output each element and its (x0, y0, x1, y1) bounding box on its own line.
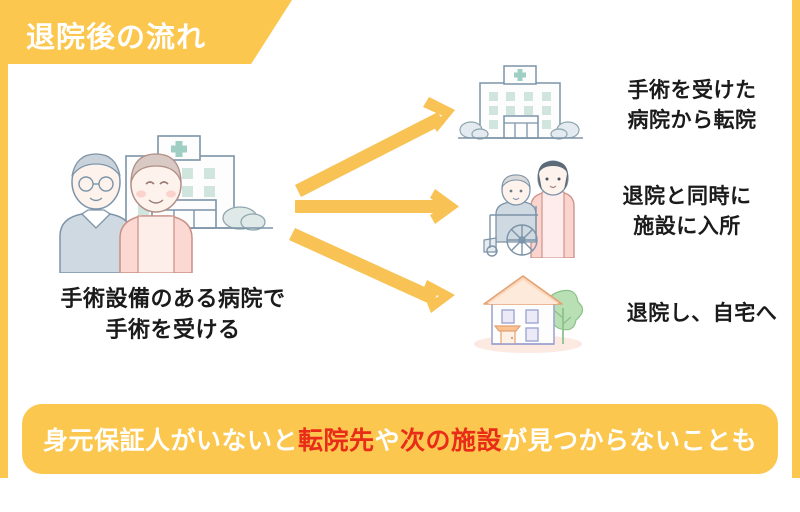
hospital-building-icon (458, 58, 583, 153)
branch-label-1-line1: 手術を受けた (597, 76, 787, 106)
branch-label-2-line1: 退院と同時に (593, 182, 781, 212)
branch-label-2: 退院と同時に 施設に入所 (593, 182, 781, 242)
arrow-right-icon (295, 189, 459, 224)
bottom-white-strip (0, 478, 800, 512)
arrow-up-right-icon (295, 97, 455, 197)
infographic-root: 退院後の流れ (0, 0, 800, 512)
branch-row-return-home: 退院し、自宅へ (470, 268, 800, 359)
branch-label-2-line2: 施設に入所 (593, 212, 781, 242)
callout-text: 身元保証人がいないと転院先や次の施設が見つからないことも (43, 421, 757, 457)
callout-seg-3-highlight: 次の施設 (400, 427, 502, 455)
flow-arrows (275, 85, 475, 320)
right-accent-bar (792, 0, 800, 512)
branch-label-3: 退院し、自宅へ (598, 299, 800, 329)
house-with-tree-icon (470, 268, 588, 359)
callout-seg-2: や (374, 427, 400, 455)
callout-seg-4: が見つからないことも (502, 427, 757, 455)
branch-row-facility-admission: 退院と同時に 施設に入所 (476, 160, 781, 263)
wheelchair-caregiver-icon (476, 160, 581, 263)
left-accent-bar (0, 0, 8, 512)
callout-seg-0: 身元保証人がいないと (43, 427, 298, 455)
callout-banner: 身元保証人がいないと転院先や次の施設が見つからないことも (22, 404, 778, 474)
branch-label-1-line2: 病院から転院 (597, 106, 787, 136)
callout-seg-1-highlight: 転院先 (298, 427, 375, 455)
arrow-down-right-icon (289, 228, 455, 313)
elderly-couple-with-hospital-illustration (48, 118, 298, 273)
branch-label-3-line1: 退院し、自宅へ (598, 299, 800, 329)
branch-row-transfer-hospital: 手術を受けた 病院から転院 (458, 58, 787, 153)
branch-label-1: 手術を受けた 病院から転院 (597, 76, 787, 136)
page-title: 退院後の流れ (26, 14, 206, 56)
